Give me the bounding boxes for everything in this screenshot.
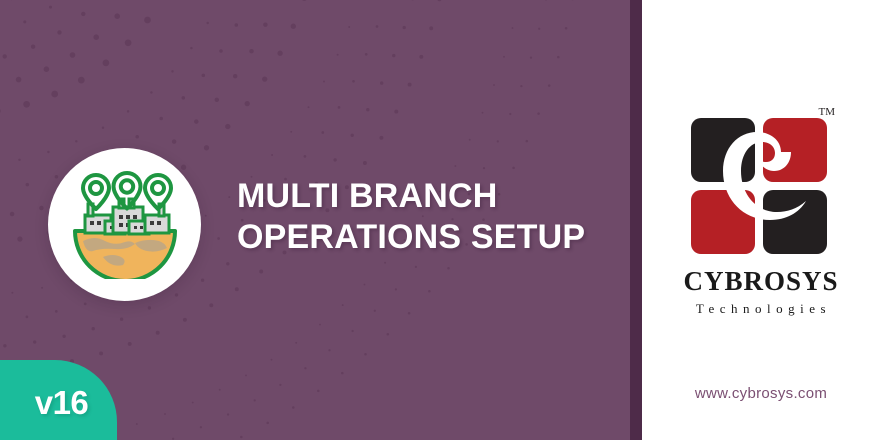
right-brand-panel: TM CYBROSYS Technologies www.cybrosys.co…: [642, 0, 880, 440]
promo-banner: MULTI BRANCH OPERATIONS SETUP v16: [0, 0, 880, 440]
left-purple-panel: MULTI BRANCH OPERATIONS SETUP v16: [0, 0, 630, 440]
brand-company-name: CYBROSYS: [683, 268, 838, 295]
panel-divider: [630, 0, 642, 440]
cybrosys-logo-mark: TM: [685, 108, 837, 260]
brand-logo-block: TM CYBROSYS Technologies: [642, 108, 880, 315]
feature-icon-circle: [48, 148, 201, 301]
version-badge-label: v16: [29, 378, 89, 422]
multi-branch-globe-icon: [69, 171, 181, 279]
brand-tagline: Technologies: [691, 302, 831, 315]
banner-title: MULTI BRANCH OPERATIONS SETUP: [237, 176, 617, 258]
brand-website-url: www.cybrosys.com: [642, 385, 880, 402]
trademark-symbol: TM: [819, 106, 836, 118]
title-line-1: MULTI BRANCH: [237, 176, 617, 217]
title-line-2: OPERATIONS SETUP: [237, 217, 617, 258]
